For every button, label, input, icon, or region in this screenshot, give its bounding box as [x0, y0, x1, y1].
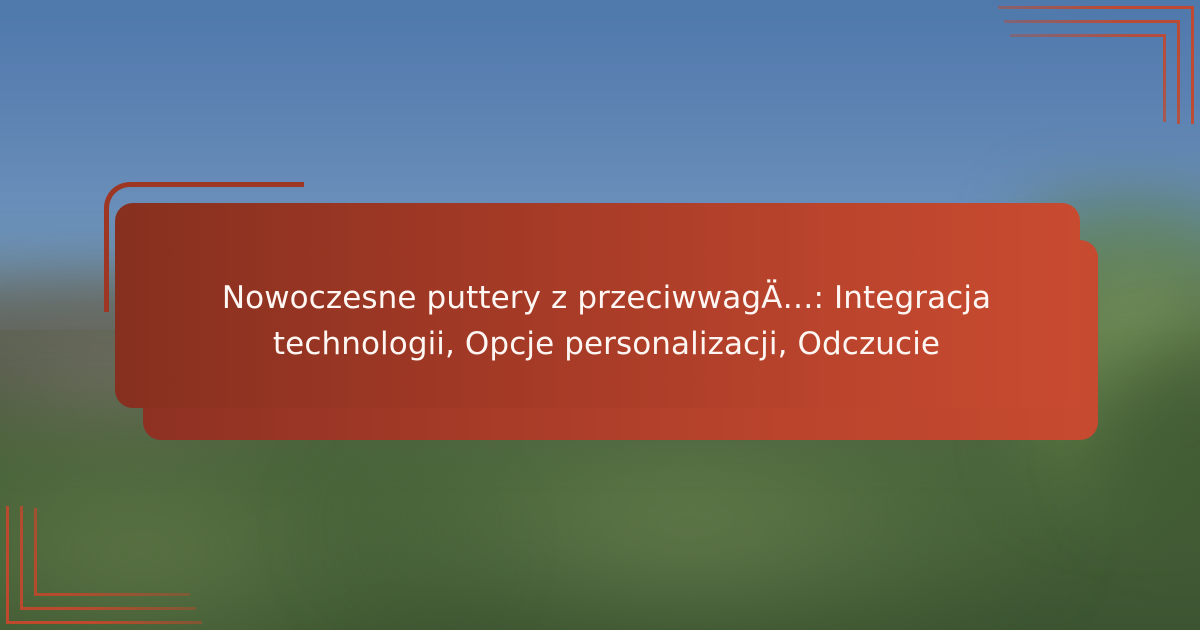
background-shrub-right: [1080, 330, 1200, 550]
background-grass-highlight: [330, 430, 1050, 630]
corner-line-icon: [20, 506, 196, 610]
corner-decoration-top-right: [960, 0, 1200, 150]
page-title: Nowoczesne puttery z przeciwwagÄ…: Integ…: [115, 203, 1098, 440]
corner-line-icon: [1010, 34, 1166, 122]
corner-line-icon: [34, 508, 190, 596]
corner-line-icon: [6, 506, 202, 624]
corner-line-icon: [998, 6, 1194, 124]
corner-decoration-bottom-left: [0, 480, 240, 630]
social-share-card: Nowoczesne puttery z przeciwwagÄ…: Integ…: [0, 0, 1200, 630]
corner-line-icon: [1004, 20, 1180, 124]
